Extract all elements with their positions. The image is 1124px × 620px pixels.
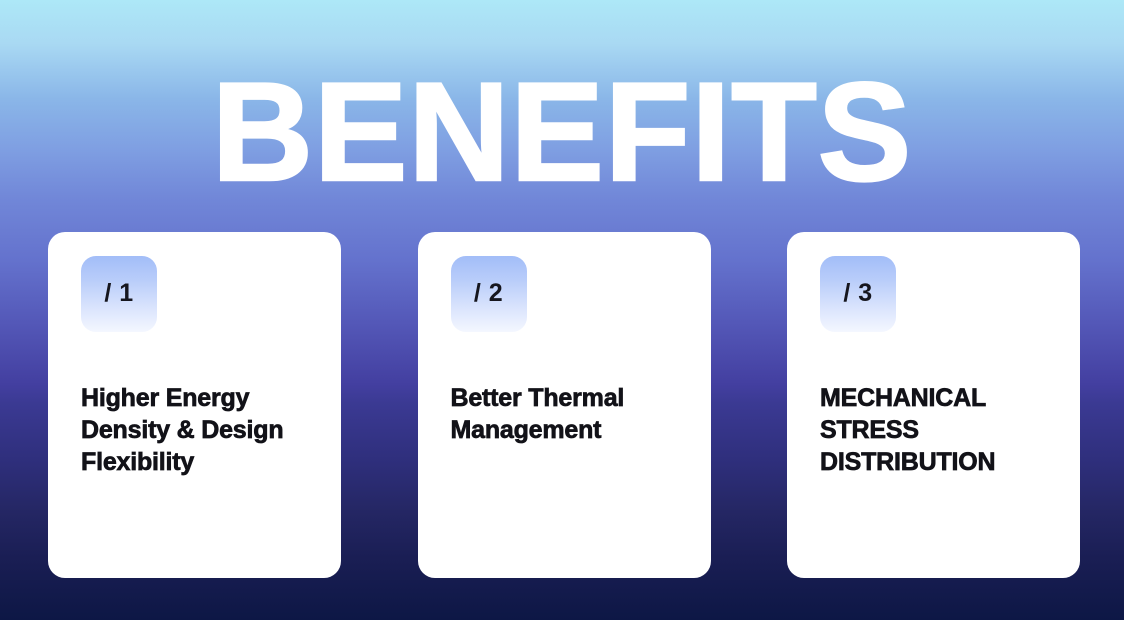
benefits-slide: BENEFITS / 1 Higher Energy Density & Des… bbox=[0, 0, 1124, 620]
benefit-cards-row: / 1 Higher Energy Density & Design Flexi… bbox=[48, 232, 1080, 578]
benefit-card-1[interactable]: / 1 Higher Energy Density & Design Flexi… bbox=[48, 232, 341, 578]
benefit-title-2: Better Thermal Management bbox=[451, 382, 679, 446]
benefit-badge-2: / 2 bbox=[451, 256, 527, 332]
benefit-title-3: MECHANICAL STRESS DISTRIBUTION bbox=[820, 382, 1048, 478]
benefit-badge-label-3: / 3 bbox=[843, 281, 872, 307]
benefit-card-2[interactable]: / 2 Better Thermal Management bbox=[418, 232, 711, 578]
benefit-badge-3: / 3 bbox=[820, 256, 896, 332]
benefit-badge-label-1: / 1 bbox=[104, 281, 133, 307]
page-title: BENEFITS bbox=[0, 62, 1124, 202]
benefit-badge-1: / 1 bbox=[81, 256, 157, 332]
benefit-title-1: Higher Energy Density & Design Flexibili… bbox=[81, 382, 309, 478]
benefit-badge-label-2: / 2 bbox=[474, 281, 503, 307]
benefit-card-3[interactable]: / 3 MECHANICAL STRESS DISTRIBUTION bbox=[787, 232, 1080, 578]
